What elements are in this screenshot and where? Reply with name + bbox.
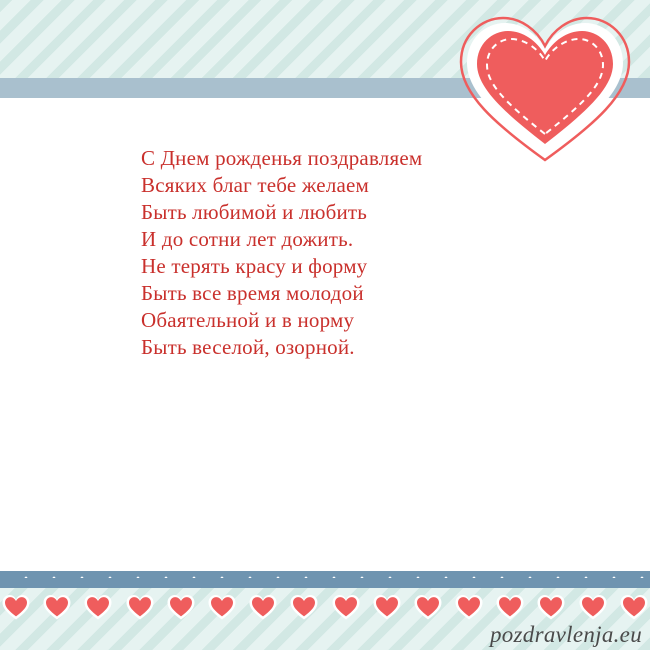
- mini-heart-icon: [207, 593, 237, 621]
- poem-text: С Днем рожденья поздравляем Всяких благ …: [141, 145, 561, 361]
- mini-heart-icon: [372, 593, 402, 621]
- mini-heart-icon: [42, 593, 72, 621]
- greeting-card: С Днем рожденья поздравляем Всяких благ …: [0, 0, 650, 650]
- mini-heart-icon: [331, 593, 361, 621]
- mini-heart-icon: [289, 593, 319, 621]
- watermark-label: pozdravlenja.eu: [490, 622, 642, 648]
- poem-line: Быть любимой и любить: [141, 199, 561, 226]
- mini-heart-icon: [578, 593, 608, 621]
- mini-heart-icon: [413, 593, 443, 621]
- mini-heart-icon: [536, 593, 566, 621]
- poem-line: С Днем рожденья поздравляем: [141, 145, 561, 172]
- mini-heart-icon: [495, 593, 525, 621]
- big-heart-icon: [455, 8, 635, 168]
- poem-line: Не терять красу и форму: [141, 253, 561, 280]
- mini-heart-icon: [125, 593, 155, 621]
- poem-line: Обаятельной и в норму: [141, 307, 561, 334]
- mini-heart-icon: [454, 593, 484, 621]
- mini-heart-icon: [619, 593, 649, 621]
- poem-line: Быть все время молодой: [141, 280, 561, 307]
- poem-line: И до сотни лет дожить.: [141, 226, 561, 253]
- poem-line: Всяких благ тебе желаем: [141, 172, 561, 199]
- mini-heart-icon: [83, 593, 113, 621]
- mini-heart-icon: [1, 593, 31, 621]
- mini-hearts-row: [0, 590, 650, 624]
- mini-heart-icon: [166, 593, 196, 621]
- poem-line: Быть веселой, озорной.: [141, 334, 561, 361]
- mini-heart-icon: [248, 593, 278, 621]
- bottom-zigzag-edge: [0, 568, 650, 578]
